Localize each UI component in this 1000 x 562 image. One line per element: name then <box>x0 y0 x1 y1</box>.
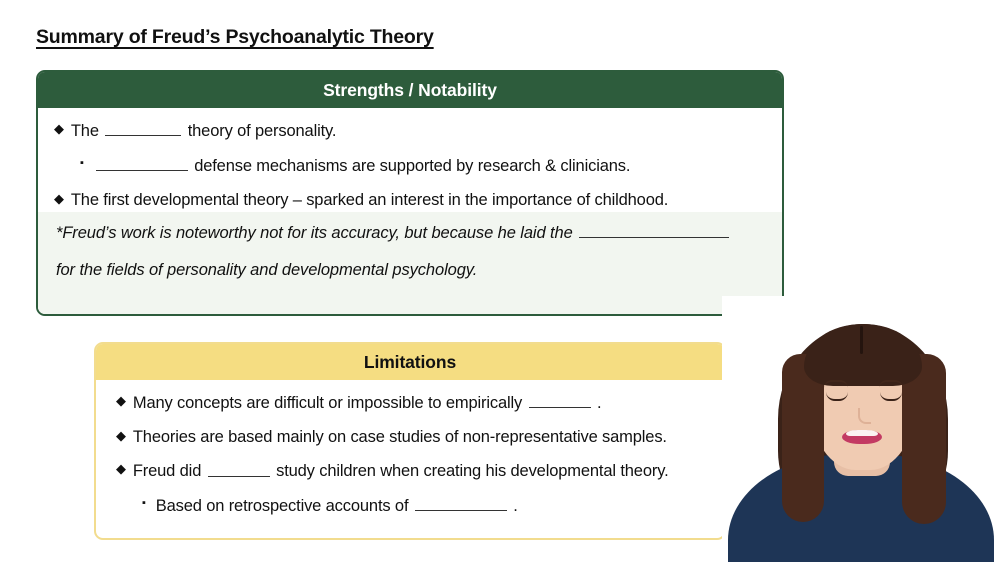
fill-in-blank[interactable] <box>529 392 591 408</box>
presenter-video-overlay <box>722 296 1000 562</box>
limitations-card: Limitations ◆ Many concepts are difficul… <box>94 342 726 540</box>
slide-canvas: Summary of Freud’s Psychoanalytic Theory… <box>0 0 1000 562</box>
list-item-text: The theory of personality. <box>71 120 766 142</box>
diamond-bullet-icon: ◆ <box>54 190 64 209</box>
text-after-blank: study children when creating his develop… <box>276 463 668 481</box>
text-before-blank: Freud did <box>133 463 201 481</box>
strengths-note-panel: *Freud’s work is noteworthy not for its … <box>38 212 782 314</box>
presenter-eyebrow-left <box>824 380 848 388</box>
note-line-1: *Freud’s work is noteworthy not for its … <box>56 222 764 244</box>
presenter-teeth <box>846 430 878 436</box>
presenter-nose <box>858 408 871 424</box>
presenter-eyebrow-right <box>879 380 903 388</box>
list-item: ◆ Many concepts are difficult or impossi… <box>116 392 708 414</box>
fill-in-blank[interactable] <box>208 460 270 476</box>
fill-in-blank[interactable] <box>415 495 507 511</box>
text-after-blank: theory of personality. <box>188 122 337 140</box>
limitations-card-header: Limitations <box>96 344 724 380</box>
strengths-card: Strengths / Notability ◆ The theory of p… <box>36 70 784 316</box>
diamond-bullet-icon: ◆ <box>116 427 126 446</box>
text-before-blank: Based on retrospective accounts of <box>156 497 409 515</box>
small-square-bullet-icon: ▪ <box>142 495 146 513</box>
fill-in-blank[interactable] <box>105 120 181 136</box>
limitations-card-body: ◆ Many concepts are difficult or impossi… <box>96 380 724 517</box>
page-title: Summary of Freud’s Psychoanalytic Theory <box>36 26 434 49</box>
fill-in-blank[interactable] <box>579 222 729 238</box>
presenter-hair-part <box>860 326 863 354</box>
note-line-2: for the fields of personality and develo… <box>56 260 764 281</box>
text-before-blank: Many concepts are difficult or impossibl… <box>133 394 522 412</box>
list-item-text: defense mechanisms are supported by rese… <box>94 155 766 177</box>
text-after-blank: defense mechanisms are supported by rese… <box>194 157 630 175</box>
text-after-blank: . <box>597 394 601 412</box>
strengths-card-body: ◆ The theory of personality. ▪ defense m… <box>38 108 782 212</box>
list-item: ▪ defense mechanisms are supported by re… <box>54 155 766 177</box>
list-item-text: Many concepts are difficult or impossibl… <box>133 392 708 414</box>
note-text-before-blank: *Freud’s work is noteworthy not for its … <box>56 224 573 242</box>
list-item-text: Theories are based mainly on case studie… <box>133 427 708 448</box>
list-item: ◆ The first developmental theory – spark… <box>54 190 766 211</box>
list-item: ◆ Freud did study children when creating… <box>116 460 708 482</box>
list-item-text: Based on retrospective accounts of . <box>156 495 708 517</box>
diamond-bullet-icon: ◆ <box>116 460 126 479</box>
strengths-card-header: Strengths / Notability <box>38 72 782 108</box>
diamond-bullet-icon: ◆ <box>54 120 64 139</box>
text-before-blank: The <box>71 122 99 140</box>
list-item: ◆ The theory of personality. <box>54 120 766 142</box>
fill-in-blank[interactable] <box>96 155 188 171</box>
diamond-bullet-icon: ◆ <box>116 392 126 411</box>
small-square-bullet-icon: ▪ <box>80 155 84 173</box>
list-item-text: The first developmental theory – sparked… <box>71 190 766 211</box>
list-item-text: Freud did study children when creating h… <box>133 460 708 482</box>
list-item: ◆ Theories are based mainly on case stud… <box>116 427 708 448</box>
list-item: ▪ Based on retrospective accounts of . <box>116 495 708 517</box>
text-after-blank: . <box>513 497 517 515</box>
